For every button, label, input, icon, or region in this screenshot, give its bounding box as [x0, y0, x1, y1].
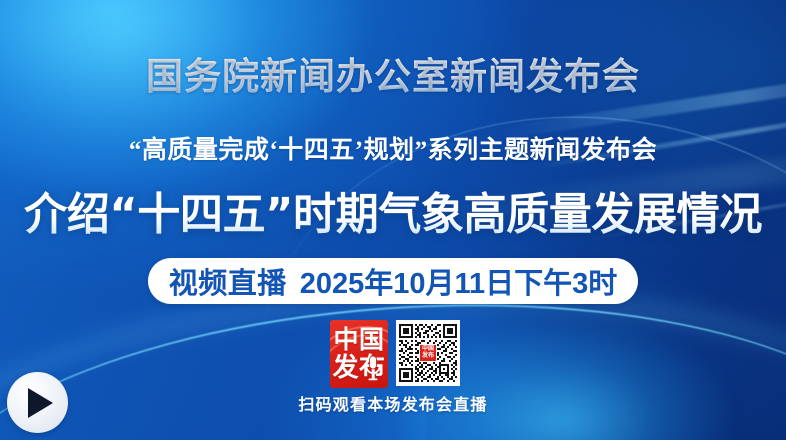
china-release-logo: 中国 发布: [330, 320, 388, 388]
qr-center-logo: 中国 发布: [419, 344, 437, 362]
qr-code[interactable]: 中国 发布: [396, 320, 460, 386]
qr-caption: 扫码观看本场发布会直播: [0, 391, 786, 415]
play-button[interactable]: [7, 372, 68, 433]
broadcast-schedule-badge: 视频直播 2025年10月11日下午3时: [148, 258, 638, 304]
series-subtitle: “高质量完成‘十四五’规划”系列主题新闻发布会: [0, 135, 786, 167]
microphone-icon: [361, 355, 385, 381]
brand-and-qr-group: 中国 发布: [330, 320, 460, 388]
live-broadcast-banner: 国务院新闻办公室新闻发布会 “高质量完成‘十四五’规划”系列主题新闻发布会 介绍…: [0, 0, 786, 440]
broadcast-datetime: 2025年10月11日下午3时: [300, 260, 618, 302]
session-headline: 介绍“十四五”时期气象高质量发展情况: [8, 189, 778, 241]
play-triangle-icon: [28, 388, 53, 418]
live-label: 视频直播: [169, 260, 287, 302]
logo-text-line-1: 中国: [333, 327, 384, 354]
qr-center-line-1: 中国: [422, 346, 434, 353]
page-title: 国务院新闻办公室新闻发布会: [0, 57, 786, 99]
qr-center-line-2: 发布: [422, 353, 434, 360]
